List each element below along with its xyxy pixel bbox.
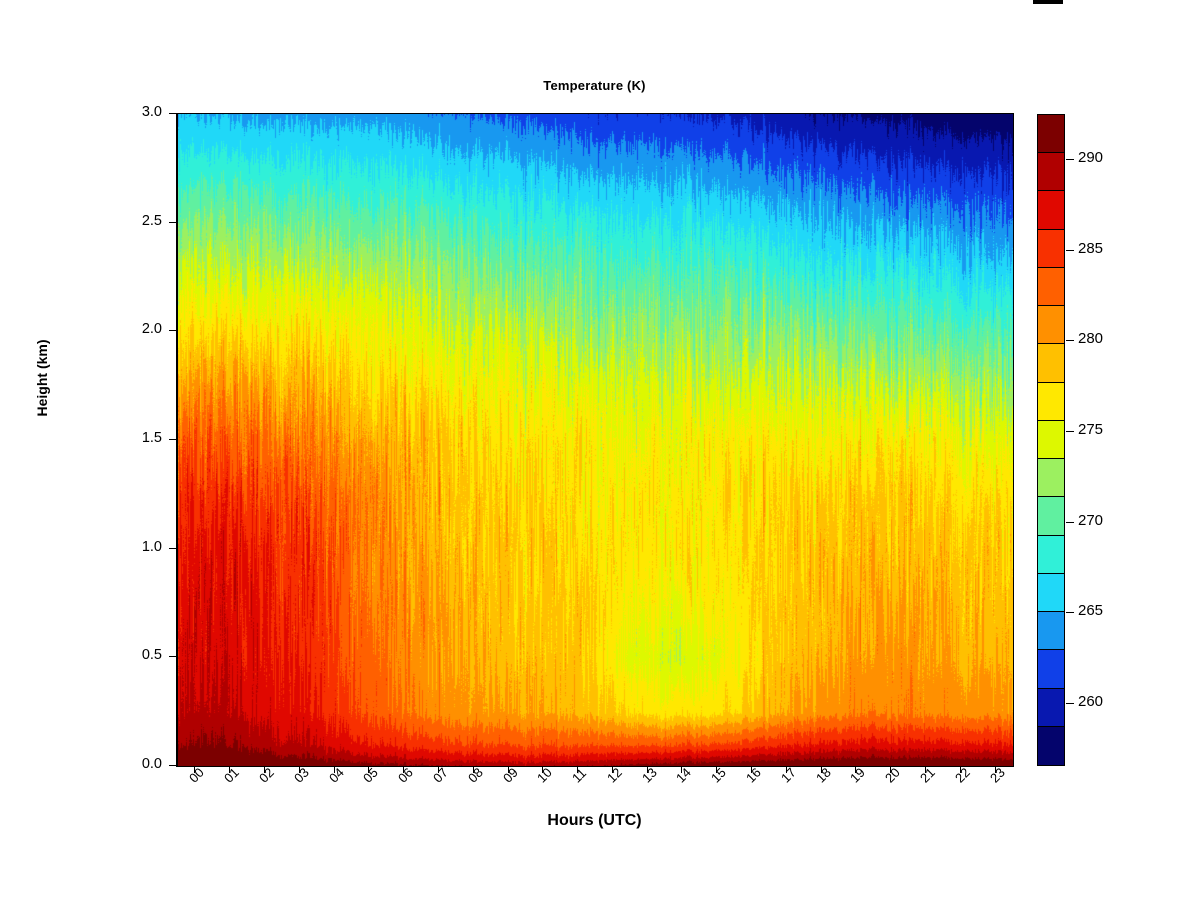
colorbar-band — [1038, 191, 1064, 229]
x-axis-tick-label: 10 — [534, 765, 555, 786]
heatmap-image — [178, 114, 1013, 766]
x-axis-tick-label: 15 — [708, 765, 729, 786]
x-axis-tick-label: 13 — [639, 765, 660, 786]
colorbar-tick-label: 265 — [1078, 602, 1103, 619]
x-axis-tick-label: 21 — [917, 765, 938, 786]
page-title: Temperature (K) — [177, 78, 1012, 93]
colorbar-tick-label: 275 — [1078, 421, 1103, 438]
x-axis-tick-label: 16 — [743, 765, 764, 786]
colorbar-band — [1038, 230, 1064, 268]
colorbar-band — [1038, 268, 1064, 306]
colorbar-tick-label: 285 — [1078, 240, 1103, 257]
colorbar — [1037, 114, 1065, 766]
colorbar-band — [1038, 344, 1064, 382]
colorbar-band — [1038, 574, 1064, 612]
colorbar-band — [1038, 383, 1064, 421]
colorbar-tick — [1066, 340, 1074, 341]
x-axis-tick-label: 18 — [813, 765, 834, 786]
x-axis-tick-label: 01 — [221, 765, 242, 786]
x-axis-title: Hours (UTC) — [177, 812, 1012, 830]
colorbar-band — [1038, 612, 1064, 650]
y-axis-tick — [169, 113, 176, 114]
x-axis-tick-label: 19 — [847, 765, 868, 786]
colorbar-band — [1038, 153, 1064, 191]
figure-canvas: Temperature (K) 0.00.51.01.52.02.53.0 He… — [0, 0, 1200, 900]
colorbar-band — [1038, 650, 1064, 688]
y-axis-tick-labels: 0.00.51.01.52.02.53.0 — [100, 113, 162, 765]
colorbar-tick-label: 280 — [1078, 330, 1103, 347]
y-axis-tick-label: 0.0 — [110, 756, 162, 772]
y-axis-line — [176, 113, 177, 767]
colorbar-tick — [1066, 159, 1074, 160]
x-axis-tick-label: 20 — [882, 765, 903, 786]
y-axis-tick — [169, 765, 176, 766]
colorbar-band — [1038, 115, 1064, 153]
y-axis-tick — [169, 656, 176, 657]
colorbar-tick — [1066, 250, 1074, 251]
x-axis-tick-label: 02 — [256, 765, 277, 786]
colorbar-tick-label: 270 — [1078, 512, 1103, 529]
y-axis-tick-label: 2.5 — [110, 213, 162, 229]
colorbar-tick-label: 260 — [1078, 693, 1103, 710]
x-axis-tick-label: 22 — [952, 765, 973, 786]
heatmap-plot-area — [177, 113, 1014, 767]
colorbar-band — [1038, 421, 1064, 459]
x-axis-tick-label: 06 — [395, 765, 416, 786]
x-axis-tick-label: 12 — [604, 765, 625, 786]
y-axis-title: Height (km) — [34, 298, 50, 458]
colorbar-band — [1038, 459, 1064, 497]
x-axis-tick-label: 08 — [465, 765, 486, 786]
colorbar-band — [1038, 306, 1064, 344]
colorbar-tick — [1066, 431, 1074, 432]
colorbar-tick — [1066, 703, 1074, 704]
x-axis-tick-label: 05 — [360, 765, 381, 786]
colorbar-band — [1038, 727, 1064, 765]
x-axis-tick-label: 11 — [569, 765, 589, 785]
x-axis-tick-label: 23 — [987, 765, 1008, 786]
x-axis-tick-label: 09 — [500, 765, 521, 786]
x-axis-tick-label: 14 — [673, 765, 694, 786]
y-axis-tick — [169, 548, 176, 549]
y-axis-tick-label: 1.0 — [110, 539, 162, 555]
y-axis-tick — [169, 330, 176, 331]
y-axis-tick-label: 1.5 — [110, 430, 162, 446]
colorbar-band — [1038, 536, 1064, 574]
y-axis-tick — [169, 439, 176, 440]
x-axis-tick-label: 04 — [326, 765, 347, 786]
colorbar-tick-label: 290 — [1078, 149, 1103, 166]
colorbar-tick — [1066, 522, 1074, 523]
x-axis-tick-label: 17 — [778, 765, 799, 786]
y-axis-tick-label: 2.0 — [110, 321, 162, 337]
y-axis-tick — [169, 222, 176, 223]
colorbar-band — [1038, 689, 1064, 727]
x-axis-tick-label: 00 — [186, 765, 207, 786]
y-axis-tick-label: 0.5 — [110, 647, 162, 663]
y-axis-tick-label: 3.0 — [110, 104, 162, 120]
colorbar-band — [1038, 497, 1064, 535]
x-axis-tick-label: 03 — [291, 765, 312, 786]
colorbar-tick — [1066, 612, 1074, 613]
top-right-artifact-bar — [1033, 0, 1063, 4]
x-axis-tick-label: 07 — [430, 765, 451, 786]
